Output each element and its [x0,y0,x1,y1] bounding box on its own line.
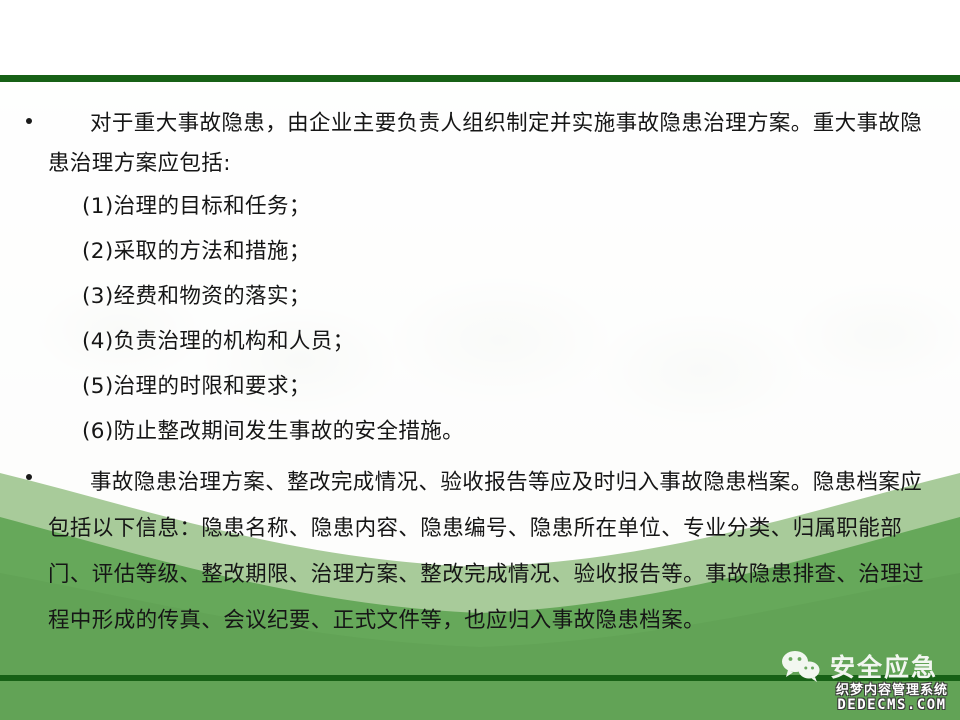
slide-canvas: 对于重大事故隐患，由企业主要负责人组织制定并实施事故隐患治理方案。重大事故隐患治… [0,0,960,720]
bullet-2-paragraph: 事故隐患治理方案、整改完成情况、验收报告等应及时归入事故隐患档案。隐患档案应包括… [24,460,942,644]
list-item: (3)经费和物资的落实； [48,274,960,319]
bullet-item-1: 对于重大事故隐患，由企业主要负责人组织制定并实施事故隐患治理方案。重大事故隐患治… [0,104,960,184]
watermark-domain-text: DEDECMS.COM [836,698,948,713]
list-item: (5)治理的时限和要求； [48,364,960,409]
slide-title-placeholder [0,0,960,75]
wechat-account-label: 安全应急 [830,648,938,684]
list-item: (2)采取的方法和措施； [48,229,960,274]
bullet-1-paragraph: 对于重大事故隐患，由企业主要负责人组织制定并实施事故隐患治理方案。重大事故隐患治… [24,104,942,184]
bullet-dot-icon [26,474,32,480]
bullet-item-2: 事故隐患治理方案、整改完成情况、验收报告等应及时归入事故隐患档案。隐患档案应包括… [0,460,960,644]
wechat-icon [780,649,822,683]
dedecms-watermark: 织梦内容管理系统 DEDECMS.COM [836,684,948,712]
list-item: (1)治理的目标和任务； [48,184,960,229]
top-accent-rule [0,75,960,82]
bullet-dot-icon [26,118,32,124]
list-item: (4)负责治理的机构和人员； [48,319,960,364]
slide-body-content: 对于重大事故隐患，由企业主要负责人组织制定并实施事故隐患治理方案。重大事故隐患治… [0,104,960,644]
governance-plan-sub-list: (1)治理的目标和任务； (2)采取的方法和措施； (3)经费和物资的落实； (… [0,184,960,454]
list-item: (6)防止整改期间发生事故的安全措施。 [48,409,960,454]
watermark-chinese-text: 织梦内容管理系统 [836,684,948,698]
wechat-account-badge: 安全应急 [780,648,938,684]
